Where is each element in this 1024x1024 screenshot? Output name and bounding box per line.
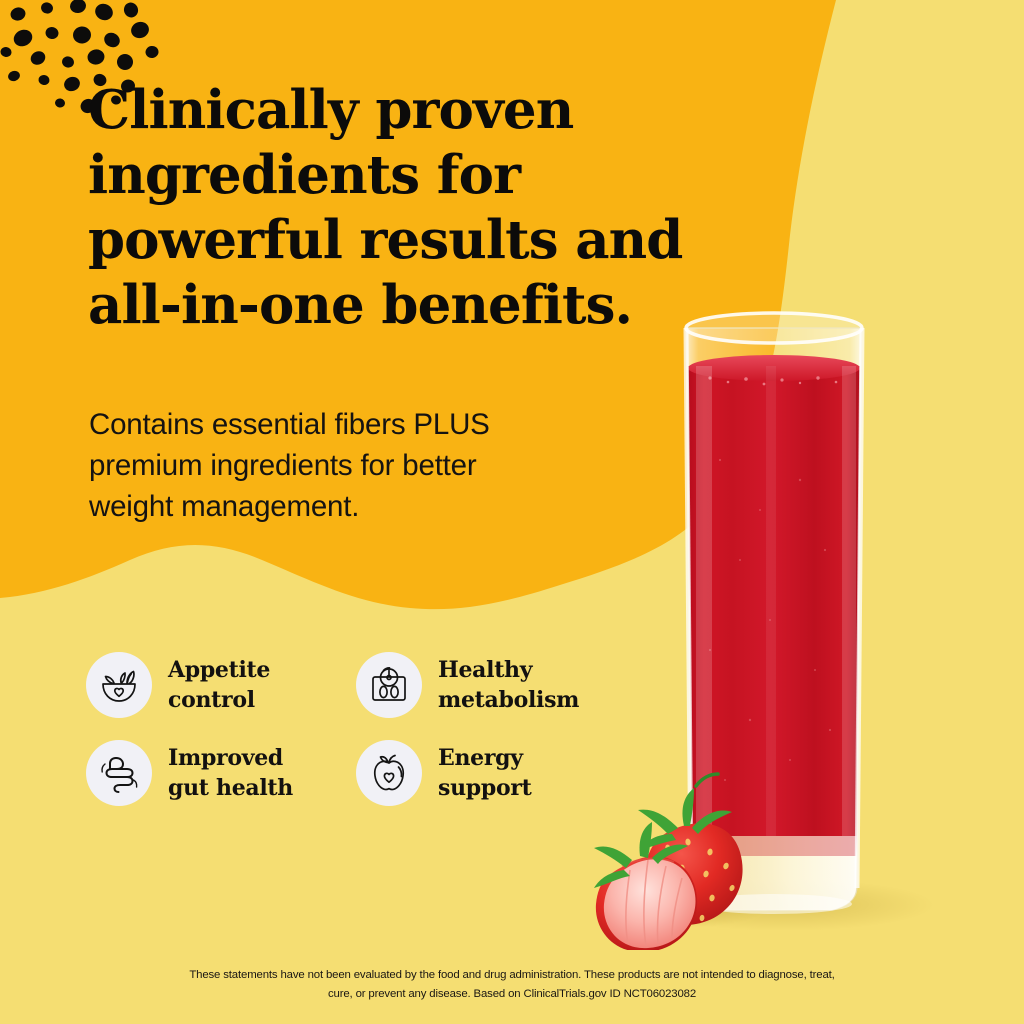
salad-bowl-heart-icon [86, 652, 152, 718]
benefit-label: Healthy metabolism [438, 655, 579, 715]
product-photo [560, 300, 990, 950]
disclaimer-line-1: These statements have not been evaluated… [112, 966, 912, 985]
benefits-row-2: Improved gut health [86, 740, 646, 806]
bathroom-scale-icon [356, 652, 422, 718]
benefit-improved-gut-health[interactable]: Improved gut health [86, 740, 356, 806]
disclaimer-line-2: cure, or prevent any disease. Based on C… [112, 985, 912, 1004]
headline: Clinically proven ingredients for powerf… [88, 78, 728, 338]
benefit-label: Energy support [438, 743, 531, 803]
headline-line-3: powerful results and [88, 208, 728, 273]
headline-line-1: Clinically proven [88, 78, 728, 143]
subheadline-line-2: premium ingredients for better [89, 445, 609, 486]
legal-disclaimer: These statements have not been evaluated… [112, 966, 912, 1004]
intestines-icon [86, 740, 152, 806]
benefit-label: Appetite control [168, 655, 270, 715]
subheadline-line-3: weight management. [89, 486, 609, 527]
benefit-label: Improved gut health [168, 743, 293, 803]
promo-banner: Clinically proven ingredients for powerf… [0, 0, 1024, 1024]
benefit-appetite-control[interactable]: Appetite control [86, 652, 356, 718]
subheadline: Contains essential fibers PLUS premium i… [89, 404, 609, 527]
benefits-grid: Appetite control [86, 652, 646, 806]
headline-line-2: ingredients for [88, 143, 728, 208]
benefits-row-1: Appetite control [86, 652, 646, 718]
subheadline-line-1: Contains essential fibers PLUS [89, 404, 609, 445]
apple-heart-icon [356, 740, 422, 806]
drinking-glass [686, 313, 864, 914]
benefit-energy-support[interactable]: Energy support [356, 740, 626, 806]
benefit-healthy-metabolism[interactable]: Healthy metabolism [356, 652, 626, 718]
